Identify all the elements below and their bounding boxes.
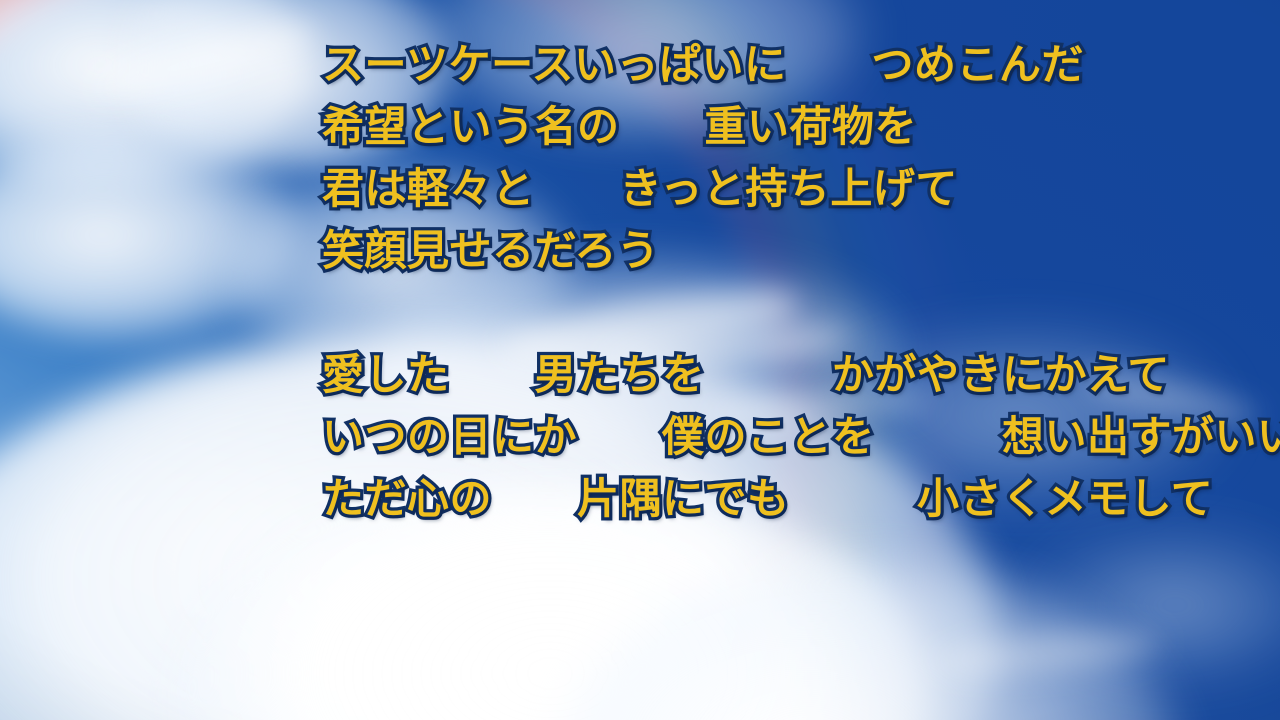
lyric-line: ただ心の 片隅にでも 小さくメモして: [322, 468, 1262, 530]
lyrics-overlay: スーツケースいっぱいに つめこんだ 希望という名の 重い荷物を 君は軽々と きっ…: [322, 34, 1262, 530]
lyric-line: 君は軽々と きっと持ち上げて: [322, 158, 1262, 220]
lyric-line: いつの日にか 僕のことを 想い出すがいい: [322, 406, 1262, 468]
lyric-line: 希望という名の 重い荷物を: [322, 96, 1262, 158]
lyric-line-blank: [322, 282, 1262, 344]
video-frame: スーツケースいっぱいに つめこんだ 希望という名の 重い荷物を 君は軽々と きっ…: [0, 0, 1280, 720]
lyric-line: 愛した 男たちを かがやきにかえて: [322, 344, 1262, 406]
lyric-line: スーツケースいっぱいに つめこんだ: [322, 34, 1262, 96]
lyric-line: 笑顔見せるだろう: [322, 220, 1262, 282]
